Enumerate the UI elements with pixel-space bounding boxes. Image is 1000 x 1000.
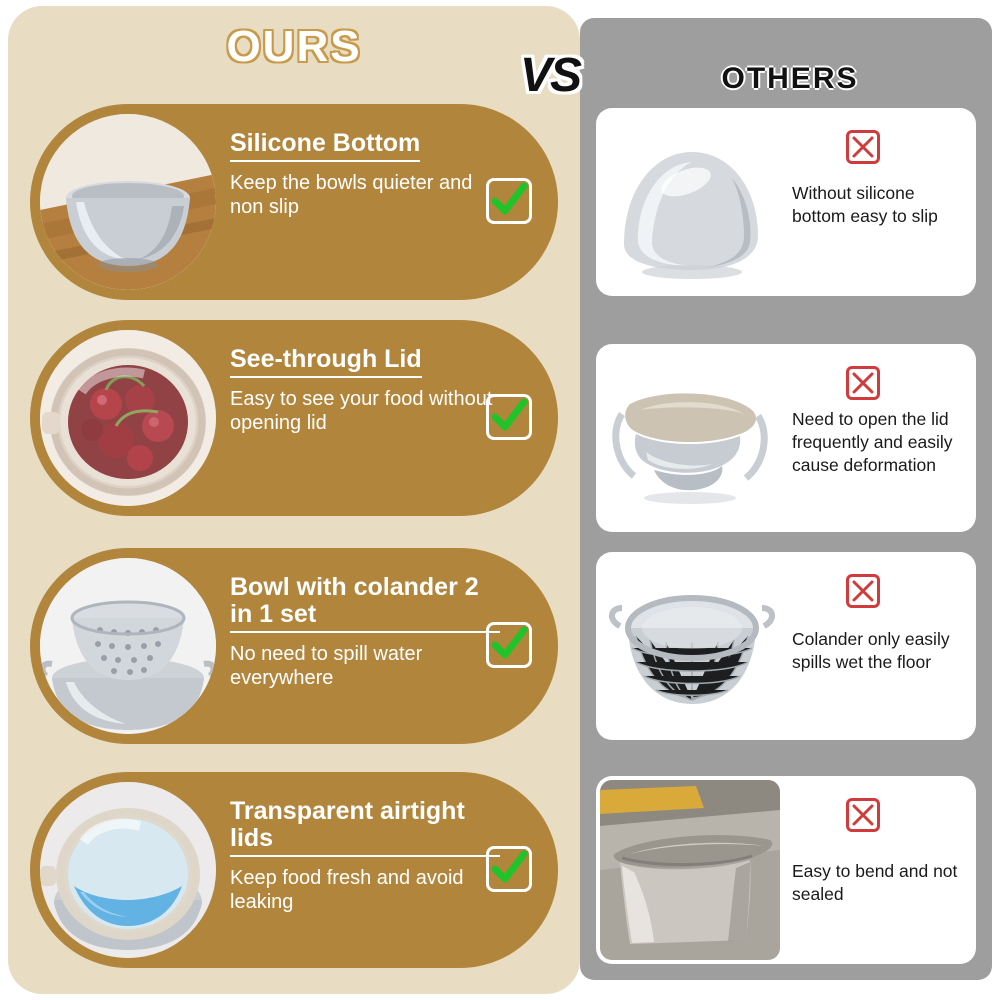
ours-feature-title: See-through Lid (230, 346, 422, 378)
ours-photo-see-through-lid (40, 330, 216, 506)
ours-photo-silicone-bottom (40, 114, 216, 290)
ours-feature-title: Bowl with colander 2 in 1 set (230, 574, 500, 633)
others-photo-colander-only (600, 556, 780, 736)
product-comparison-image: OURS VS OTHERS Silicone Bottom Keep the … (0, 0, 1000, 1000)
cross-icon (846, 130, 880, 164)
others-photo-bent-lid (600, 780, 780, 960)
check-icon (486, 178, 532, 224)
others-feature-row: Colander only easily spills wet the floo… (596, 552, 976, 740)
ours-text-block: Transparent airtight lids Keep food fres… (230, 798, 500, 915)
others-feature-row: Need to open the lid frequently and easi… (596, 344, 976, 532)
bowl-with-clear-lid-and-cherries-icon (40, 330, 216, 506)
mesh-colander-only-icon (600, 556, 780, 736)
ours-feature-desc: Keep the bowls quieter and non slip (230, 171, 500, 220)
ours-heading: OURS (8, 22, 580, 72)
others-feature-desc: Colander only easily spills wet the floo… (792, 628, 972, 674)
ours-feature-row: Silicone Bottom Keep the bowls quieter a… (30, 104, 558, 300)
plain-metal-bowl-upside-down-icon (600, 112, 780, 292)
ours-text-block: Silicone Bottom Keep the bowls quieter a… (230, 130, 500, 220)
ours-feature-desc: Keep food fresh and avoid leaking (230, 866, 500, 915)
others-photo-opaque-lid (600, 348, 780, 528)
ours-feature-row: Bowl with colander 2 in 1 set No need to… (30, 548, 558, 744)
others-photo-no-silicone-bottom (600, 112, 780, 292)
ours-text-block: See-through Lid Easy to see your food wi… (230, 346, 500, 436)
others-feature-desc: Without silicone bottom easy to slip (792, 182, 972, 228)
others-feature-desc: Easy to bend and not sealed (792, 860, 972, 906)
ours-photo-airtight-lid (40, 782, 216, 958)
cross-icon (846, 574, 880, 608)
vs-label: VS (520, 48, 580, 103)
ours-feature-row: See-through Lid Easy to see your food wi… (30, 320, 558, 516)
ours-feature-title: Transparent airtight lids (230, 798, 500, 857)
ours-feature-desc: Easy to see your food without opening li… (230, 387, 500, 436)
check-icon (486, 622, 532, 668)
bowl-with-transparent-airtight-lid-and-water-icon (40, 782, 216, 958)
stainless-bowl-on-wood-board-icon (40, 114, 216, 290)
ours-text-block: Bowl with colander 2 in 1 set No need to… (230, 574, 500, 691)
ours-feature-desc: No need to spill water everywhere (230, 642, 500, 691)
cross-icon (846, 366, 880, 400)
others-feature-row: Easy to bend and not sealed (596, 776, 976, 964)
bent-unsealed-lid-on-pot-icon (600, 780, 780, 960)
ours-feature-title: Silicone Bottom (230, 130, 420, 162)
cross-icon (846, 798, 880, 832)
ours-photo-bowl-with-colander (40, 558, 216, 734)
bowl-with-colander-insert-icon (40, 558, 216, 734)
others-feature-desc: Need to open the lid frequently and easi… (792, 408, 972, 477)
others-heading: OTHERS (600, 62, 980, 96)
check-icon (486, 394, 532, 440)
others-feature-row: Without silicone bottom easy to slip (596, 108, 976, 296)
bowl-with-opaque-beige-lid-icon (600, 348, 780, 528)
check-icon (486, 846, 532, 892)
ours-feature-row: Transparent airtight lids Keep food fres… (30, 772, 558, 968)
